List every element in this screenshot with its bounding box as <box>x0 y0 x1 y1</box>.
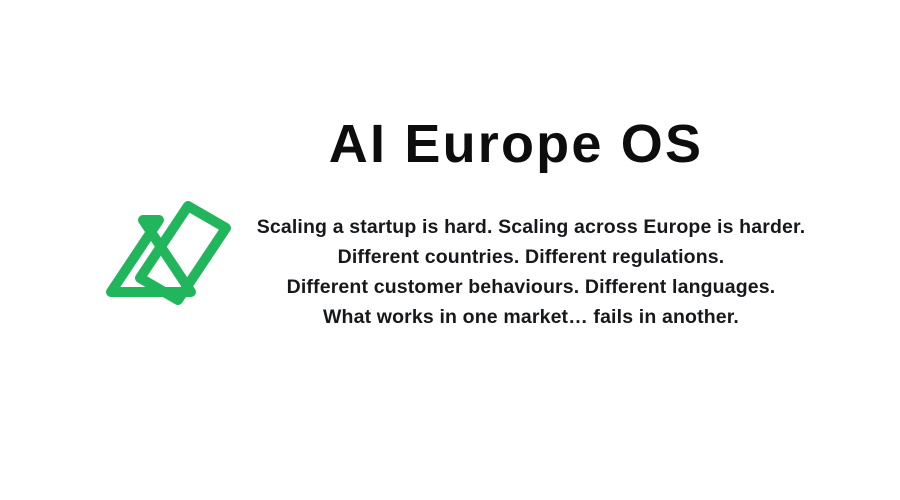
body-copy: Scaling a startup is hard. Scaling acros… <box>181 212 881 332</box>
body-line-4: What works in one market… fails in anoth… <box>181 302 881 332</box>
body-line-1: Scaling a startup is hard. Scaling acros… <box>181 212 881 242</box>
page-title: AI Europe OS <box>266 113 766 175</box>
body-line-3: Different customer behaviours. Different… <box>181 272 881 302</box>
slide-canvas: AI Europe OS Scaling a startup is hard. … <box>0 0 900 500</box>
body-line-2: Different countries. Different regulatio… <box>181 242 881 272</box>
